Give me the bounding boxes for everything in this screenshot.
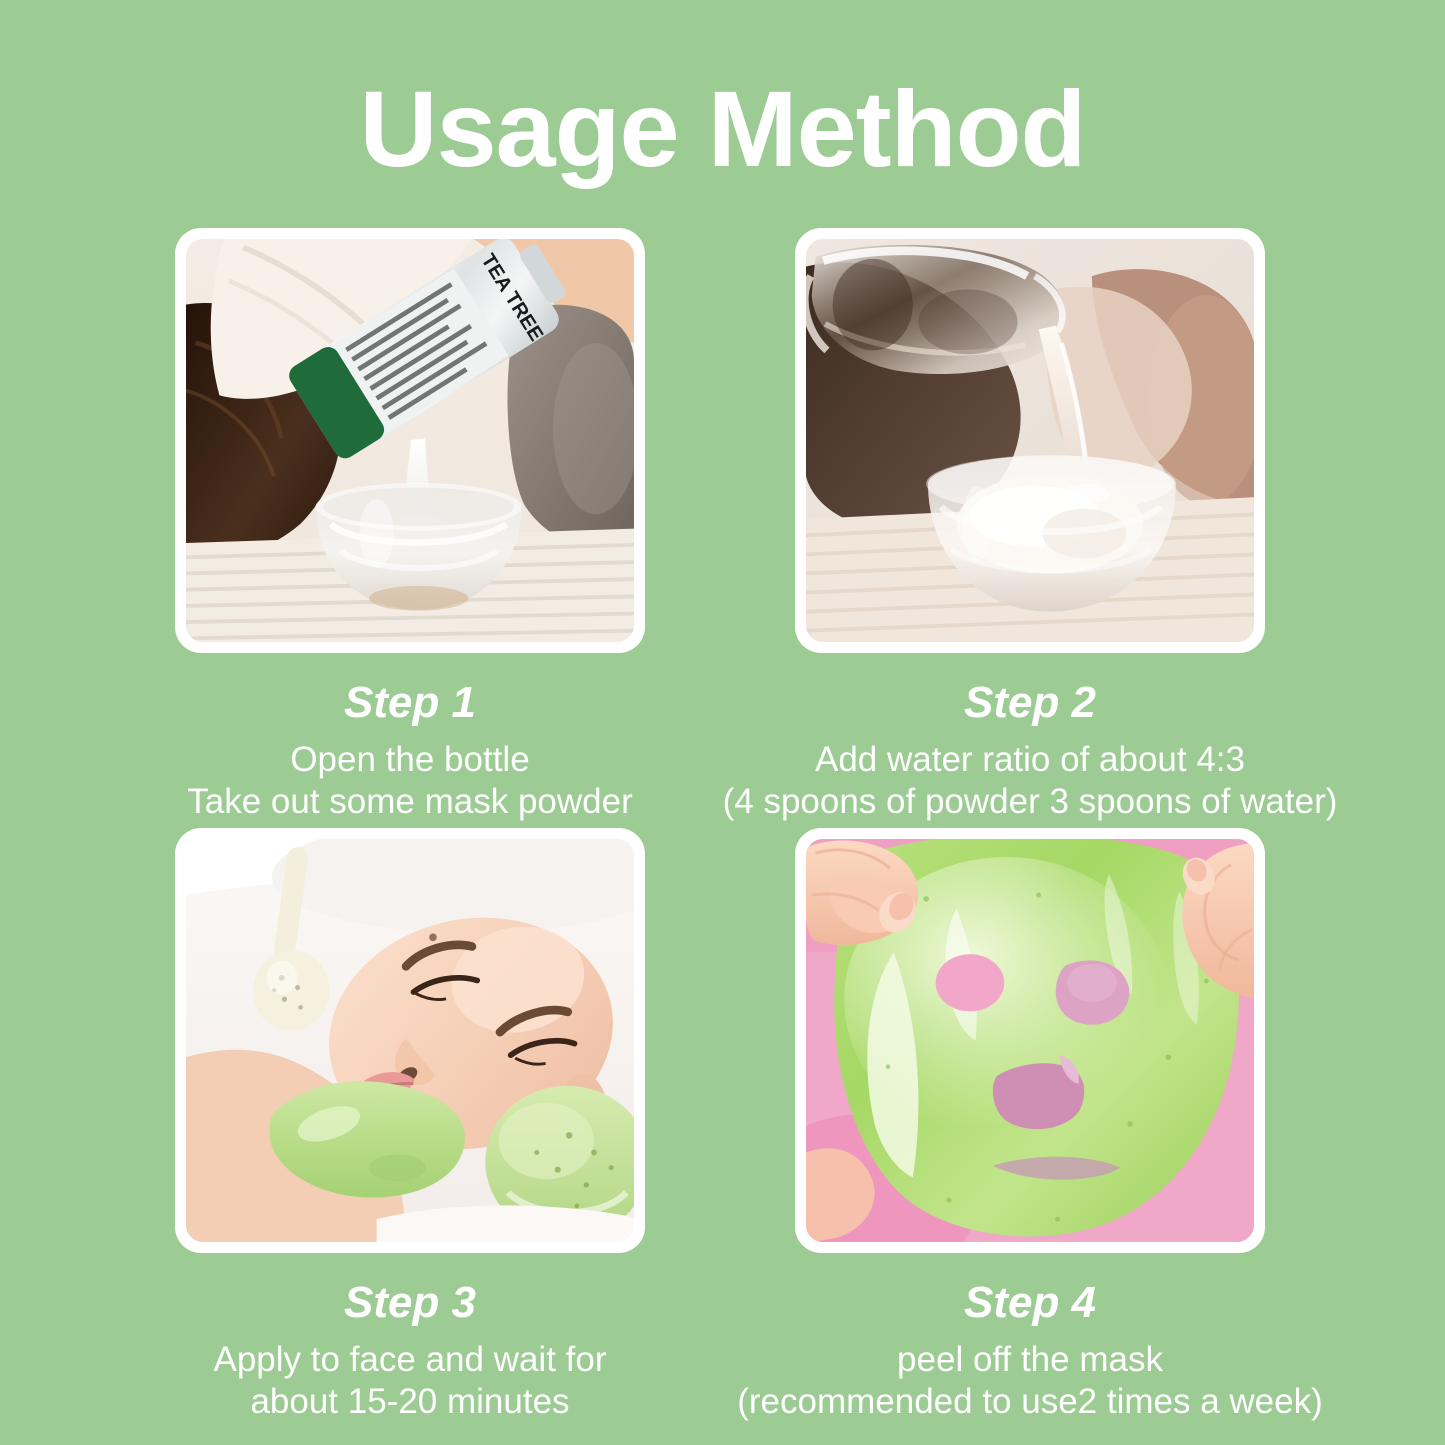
step-4-illustration [806,839,1254,1242]
step-label-4: Step 4 [795,1279,1265,1327]
step-description-1: Open the bottle Take out some mask powde… [130,739,690,822]
photo-step-4 [806,839,1254,1242]
infographic-page: Usage Method [0,0,1445,1445]
photo-frame-4 [795,828,1265,1253]
step-2-illustration [806,239,1254,642]
step-description-3: Apply to face and wait for about 15-20 m… [140,1339,680,1422]
step-card-1: TEA TREE [175,228,787,822]
step-card-3: Step 3 Apply to face and wait for about … [175,828,787,1422]
step-label-3: Step 3 [175,1279,645,1327]
step-3-illustration [186,839,634,1242]
step-1-illustration: TEA TREE [186,239,634,642]
photo-step-3 [186,839,634,1242]
step-card-4: Step 4 peel off the mask (recommended to… [795,828,1407,1422]
photo-frame-3 [175,828,645,1253]
step-description-2: Add water ratio of about 4:3 (4 spoons o… [720,739,1340,822]
step-label-1: Step 1 [175,679,645,727]
photo-step-2 [806,239,1254,642]
step-label-2: Step 2 [795,679,1265,727]
photo-step-1: TEA TREE [186,239,634,642]
photo-frame-1: TEA TREE [175,228,645,653]
step-description-4: peel off the mask (recommended to use2 t… [710,1339,1350,1422]
step-card-2: Step 2 Add water ratio of about 4:3 (4 s… [795,228,1407,822]
photo-frame-2 [795,228,1265,653]
steps-grid: TEA TREE [0,228,1445,1438]
page-title: Usage Method [0,72,1445,185]
